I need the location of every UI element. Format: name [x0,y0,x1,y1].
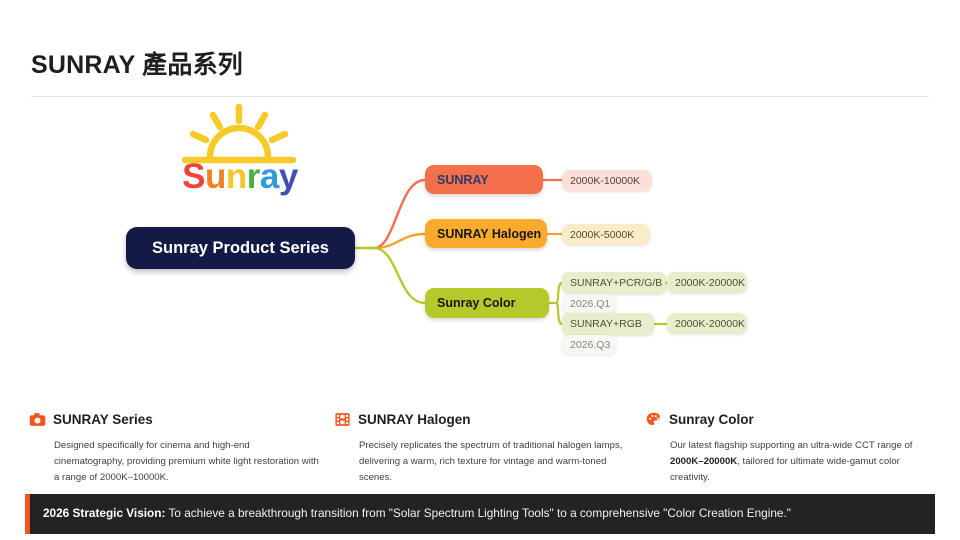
feature-columns: SUNRAY Series Designed specifically for … [0,409,960,484]
header-divider [31,96,929,97]
feature-sunray-halogen: SUNRAY Halogen Precisely replicates the … [334,409,634,485]
slide-page: SUNRAY 產品系列 Sunray [0,0,960,540]
badge-rgb-cct: 2000K-20000K [667,313,747,334]
mindmap-node-halogen-label: SUNRAY Halogen [437,227,541,241]
feature-desc-text: Designed specifically for cinema and hig… [54,440,319,483]
badge-rgb-cct-label: 2000K-20000K [675,318,745,330]
page-title: SUNRAY 產品系列 [31,45,243,81]
feature-sunray-series: SUNRAY Series Designed specifically for … [29,409,329,485]
tag-pcr-rgb-quarter-label: 2026.Q1 [570,298,610,310]
feature-desc-text: Precisely replicates the spectrum of tra… [359,440,622,483]
mindmap-node-rgb[interactable]: SUNRAY+RGB [562,313,654,335]
feature-sunray-halogen-head: SUNRAY Halogen [334,409,634,429]
feature-sunray-series-head: SUNRAY Series [29,409,329,429]
feature-sunray-color-title: Sunray Color [669,412,754,427]
feature-sunray-series-desc: Designed specifically for cinema and hig… [54,438,322,485]
mindmap-node-halogen[interactable]: SUNRAY Halogen [425,219,547,248]
mindmap-node-pcr-rgb[interactable]: SUNRAY+PCR/G/B [562,272,666,294]
mindmap-node-sunray-color-label: Sunray Color [437,296,516,310]
palette-icon [645,411,662,428]
mindmap-node-rgb-label: SUNRAY+RGB [570,318,642,330]
banner-label: 2026 Strategic Vision: [43,506,165,520]
feature-sunray-halogen-title: SUNRAY Halogen [358,412,471,427]
banner-body: To achieve a breakthrough transition fro… [165,506,791,520]
feature-sunray-color-desc: Our latest flagship supporting an ultra-… [670,438,938,485]
badge-pcr-rgb-cct-label: 2000K-20000K [675,277,745,289]
mindmap-node-sunray-label: SUNRAY [437,173,489,187]
camera-icon [29,411,46,428]
badge-halogen-cct: 2000K-5000K [562,224,650,245]
mindmap-node-sunray[interactable]: SUNRAY [425,165,543,194]
mindmap-node-pcr-rgb-label: SUNRAY+PCR/G/B [570,277,662,289]
badge-sunray-cct-label: 2000K-10000K [570,175,640,187]
product-mindmap: Sunray Product Series SUNRAY 2000K-10000… [0,100,960,390]
feature-sunray-color: Sunray Color Our latest flagship support… [645,409,945,485]
mindmap-root-node[interactable]: Sunray Product Series [126,227,355,269]
mindmap-root-label: Sunray Product Series [152,239,329,258]
tag-rgb-quarter: 2026.Q3 [562,335,616,354]
feature-desc-highlight: 2000K–20000K [670,456,737,467]
feature-desc-text: Our latest flagship supporting an ultra-… [670,440,912,451]
badge-pcr-rgb-cct: 2000K-20000K [667,272,747,293]
badge-sunray-cct: 2000K-10000K [562,170,652,191]
strategic-vision-banner: 2026 Strategic Vision: To achieve a brea… [25,494,935,534]
badge-halogen-cct-label: 2000K-5000K [570,229,634,241]
film-strip-icon [334,411,351,428]
tag-rgb-quarter-label: 2026.Q3 [570,339,610,351]
tag-pcr-rgb-quarter: 2026.Q1 [562,294,616,313]
feature-sunray-halogen-desc: Precisely replicates the spectrum of tra… [359,438,627,485]
mindmap-node-sunray-color[interactable]: Sunray Color [425,288,549,318]
banner-text: 2026 Strategic Vision: To achieve a brea… [30,505,805,522]
feature-sunray-series-title: SUNRAY Series [53,412,153,427]
feature-sunray-color-head: Sunray Color [645,409,945,429]
